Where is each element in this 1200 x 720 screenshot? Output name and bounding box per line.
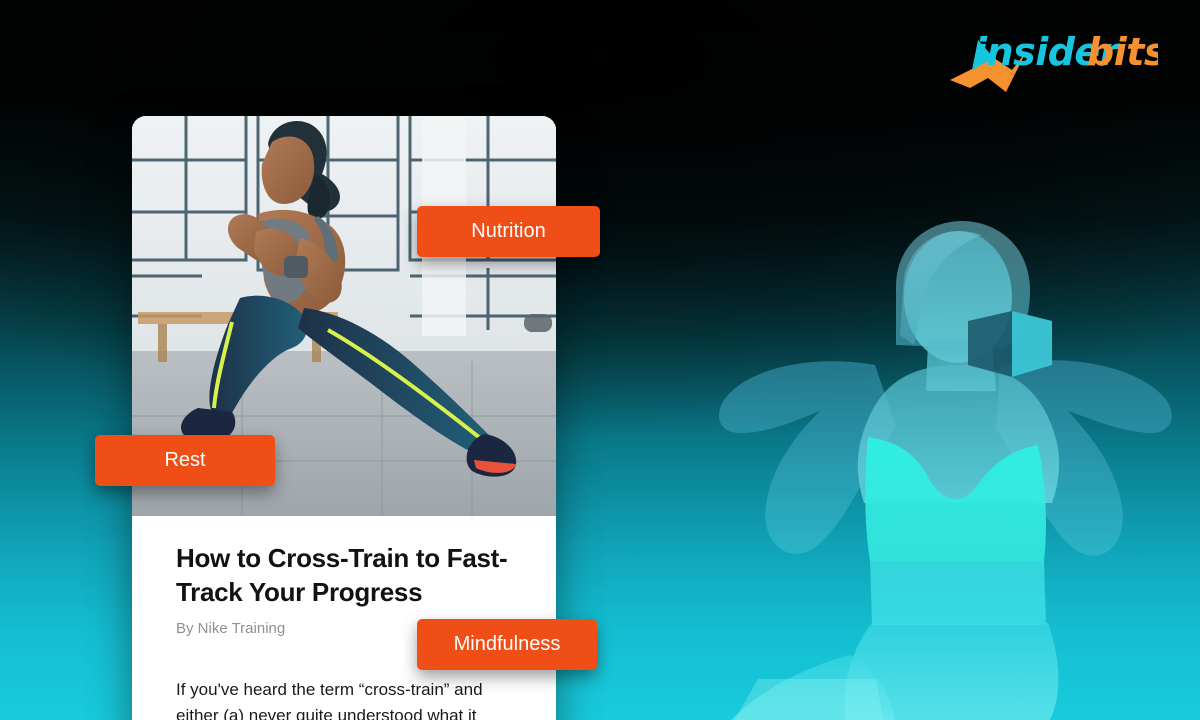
tag-label: Mindfulness — [454, 633, 561, 656]
tag-rest[interactable]: Rest — [95, 435, 275, 486]
tag-label: Rest — [164, 449, 205, 472]
tag-nutrition[interactable]: Nutrition — [417, 206, 600, 257]
insiderbits-logo[interactable]: insider bits — [948, 18, 1158, 98]
article-card-body: How to Cross-Train to Fast-Track Your Pr… — [132, 516, 556, 720]
page-title: How to Cross-Train to Fast-Track Your Pr… — [176, 542, 516, 610]
article-excerpt: If you've heard the term “cross-train” a… — [176, 677, 516, 720]
logo-text-bits: bits — [1087, 30, 1158, 74]
tag-mindfulness[interactable]: Mindfulness — [417, 619, 597, 670]
tag-label: Nutrition — [471, 220, 545, 243]
